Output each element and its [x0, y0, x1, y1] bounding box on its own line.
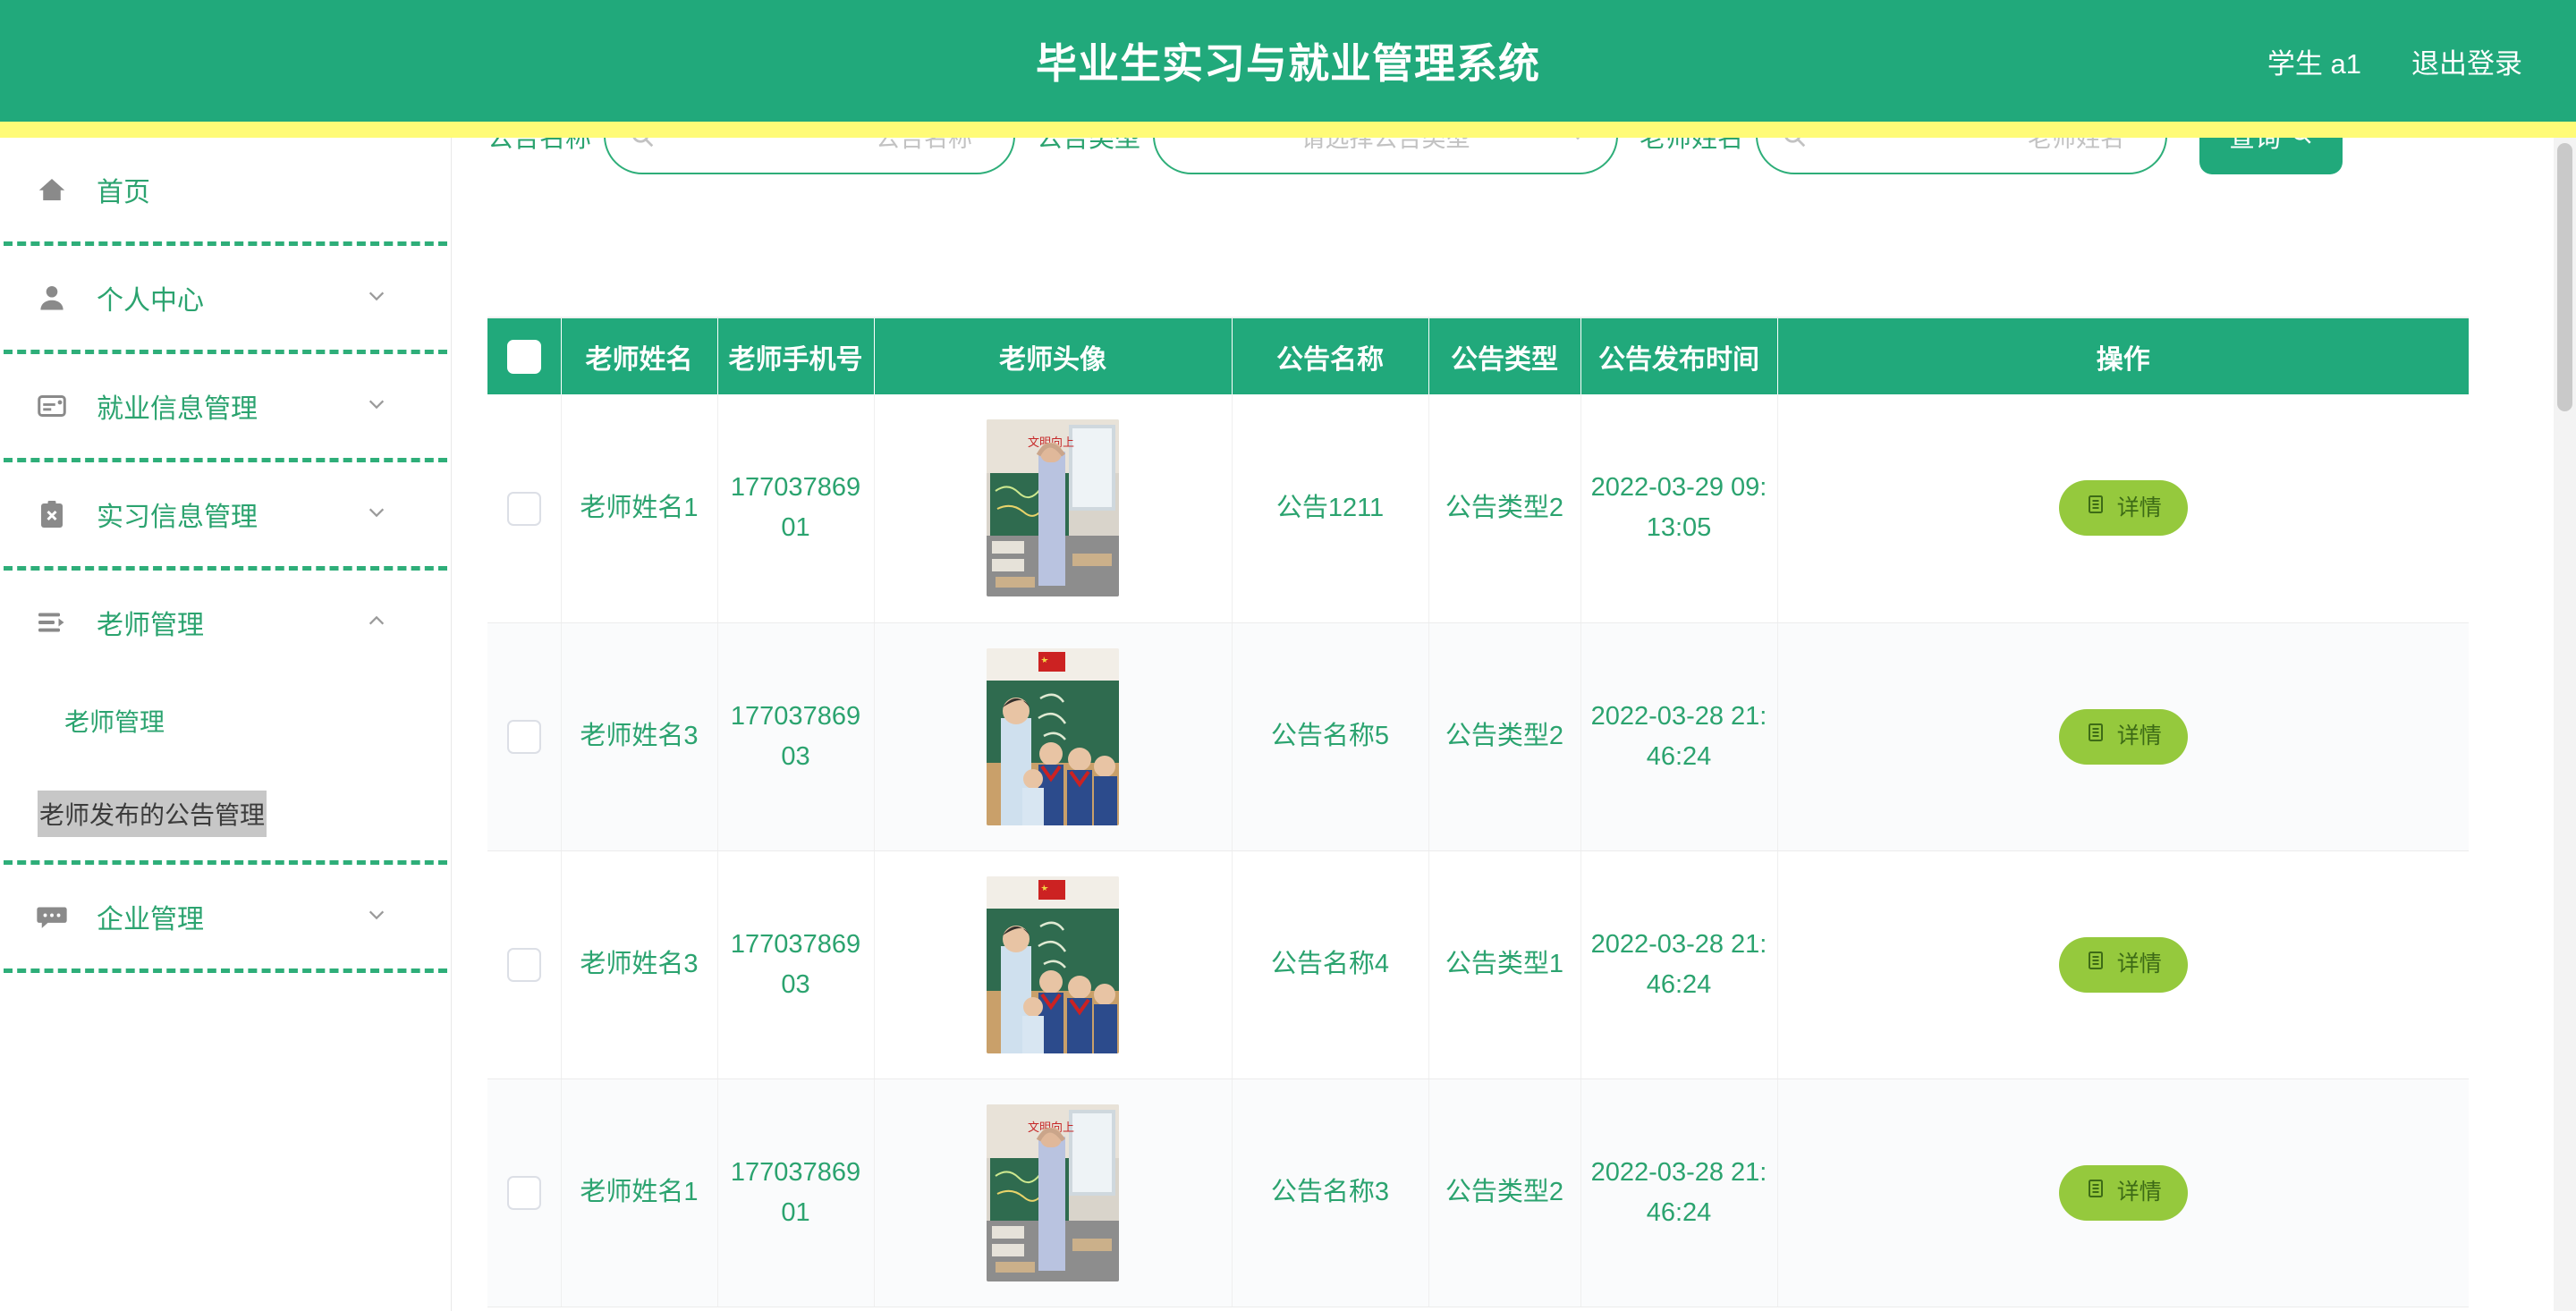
cell-teacher-avatar — [874, 622, 1232, 850]
document-icon — [2085, 491, 2106, 526]
select-all-header — [487, 317, 561, 394]
sidebar-item-employment-info[interactable]: 就业信息管理 — [0, 354, 451, 458]
cell-teacher-name: 老师姓名3 — [561, 622, 717, 850]
query-button-label: 查询 — [2229, 138, 2281, 155]
page-scrollbar[interactable] — [2554, 138, 2576, 1311]
list-arrow-icon — [34, 605, 70, 640]
sidebar-item-label: 首页 — [97, 170, 150, 209]
sidebar-item-internship-info[interactable]: 实习信息管理 — [0, 462, 451, 566]
sidebar-subitem-label: 老师管理 — [64, 703, 165, 739]
select-all-checkbox[interactable] — [507, 340, 541, 374]
detail-button[interactable]: 详情 — [2059, 709, 2188, 765]
sidebar-item-personal-center[interactable]: 个人中心 — [0, 246, 451, 350]
cell-teacher-avatar: 文明向上 — [874, 1078, 1232, 1307]
cell-actions: 详情 — [1777, 622, 2469, 850]
cell-announcement-name: 公告1211 — [1232, 394, 1428, 622]
cell-teacher-phone: 17703786903 — [717, 622, 874, 850]
cell-publish-time: 2022-03-29 09:13:05 — [1580, 394, 1777, 622]
comment-icon — [34, 899, 70, 935]
sidebar-item-enterprise-management[interactable]: 企业管理 — [0, 865, 451, 968]
cell-announcement-type: 公告类型2 — [1428, 1078, 1580, 1307]
sidebar-item-label: 个人中心 — [97, 278, 204, 317]
sidebar-item-label: 企业管理 — [97, 897, 204, 936]
cell-actions: 详情 — [1777, 850, 2469, 1078]
cell-teacher-phone: 17703786901 — [717, 394, 874, 622]
column-teacher-avatar: 老师头像 — [874, 317, 1232, 394]
chevron-down-icon — [367, 503, 386, 522]
column-teacher-name: 老师姓名 — [561, 317, 717, 394]
filter-label: 公告类型 — [1037, 138, 1140, 155]
detail-button-label: 详情 — [2117, 947, 2162, 982]
row-select-cell — [487, 1078, 561, 1307]
cell-announcement-type: 公告类型2 — [1428, 622, 1580, 850]
cell-publish-time: 2022-03-28 21:46:24 — [1580, 622, 1777, 850]
row-checkbox[interactable] — [507, 948, 541, 982]
app-header: 毕业生实习与就业管理系统 学生 a1 退出登录 — [0, 0, 2576, 122]
detail-button[interactable]: 详情 — [2059, 1165, 2188, 1221]
teacher-name-input[interactable]: 老师姓名 — [1756, 138, 2167, 174]
sidebar-subitem-label: 老师发布的公告管理 — [38, 791, 267, 837]
user-icon — [34, 280, 70, 316]
document-icon — [2085, 1175, 2106, 1210]
announcement-type-placeholder: 请选择公告类型 — [1301, 138, 1470, 154]
detail-button-label: 详情 — [2117, 491, 2162, 526]
sidebar-subitem-teacher-management[interactable]: 老师管理 — [0, 674, 451, 767]
sidebar-subitem-teacher-announcement-management[interactable]: 老师发布的公告管理 — [0, 767, 451, 860]
cell-actions: 详情 — [1777, 394, 2469, 622]
chevron-down-icon — [367, 394, 386, 414]
cell-teacher-phone: 17703786903 — [717, 850, 874, 1078]
table-row: 老师姓名3 17703786903 — [487, 850, 2469, 1078]
chevron-up-icon — [367, 611, 386, 630]
row-select-cell — [487, 394, 561, 622]
detail-button-label: 详情 — [2117, 1175, 2162, 1210]
sidebar: 首页 个人中心 就业信息管理 实习信息管理 — [0, 138, 452, 1311]
chevron-down-icon — [1570, 138, 1586, 143]
filter-announcement-type: 公告类型 请选择公告类型 — [1037, 138, 1618, 174]
row-checkbox[interactable] — [507, 1176, 541, 1210]
filter-bar: 公告名称 公告名称 公告类型 请选择公告类型 老师姓名 — [487, 138, 2491, 190]
column-teacher-phone: 老师手机号 — [717, 317, 874, 394]
filter-label: 公告名称 — [487, 138, 591, 155]
clipboard-x-icon — [34, 496, 70, 532]
column-announcement-type: 公告类型 — [1428, 317, 1580, 394]
row-select-cell — [487, 850, 561, 1078]
column-actions: 操作 — [1777, 317, 2469, 394]
announcement-type-select[interactable]: 请选择公告类型 — [1153, 138, 1618, 174]
announcement-name-placeholder: 公告名称 — [876, 138, 972, 154]
scrollbar-thumb[interactable] — [2557, 143, 2572, 411]
home-icon — [34, 172, 70, 207]
main-content: 公告名称 公告名称 公告类型 请选择公告类型 老师姓名 — [452, 138, 2554, 1311]
logout-link[interactable]: 退出登录 — [2411, 41, 2522, 81]
table-row: 老师姓名1 17703786901 文明向上 — [487, 1078, 2469, 1307]
cell-actions: 详情 — [1777, 1078, 2469, 1307]
row-checkbox[interactable] — [507, 492, 541, 526]
row-select-cell — [487, 622, 561, 850]
sidebar-item-label: 老师管理 — [97, 603, 204, 642]
detail-button[interactable]: 详情 — [2059, 480, 2188, 536]
sidebar-item-label: 就业信息管理 — [97, 386, 258, 426]
table-row: 老师姓名3 17703786903 — [487, 622, 2469, 850]
teacher-students-photo[interactable] — [987, 648, 1119, 825]
query-button[interactable]: 查询 — [2199, 138, 2343, 174]
card-icon — [34, 388, 70, 424]
current-user-label: 学生 a1 — [2267, 41, 2361, 81]
document-icon — [2085, 947, 2106, 982]
sidebar-item-home[interactable]: 首页 — [0, 138, 451, 241]
chevron-down-icon — [367, 286, 386, 306]
search-icon — [1781, 138, 1808, 149]
header-actions: 学生 a1 退出登录 — [2267, 0, 2522, 122]
table-row: 老师姓名1 17703786901 文明向上 — [487, 394, 2469, 622]
cell-announcement-name: 公告名称3 — [1232, 1078, 1428, 1307]
cell-announcement-name: 公告名称4 — [1232, 850, 1428, 1078]
announcement-name-input[interactable]: 公告名称 — [604, 138, 1015, 174]
filter-teacher-name: 老师姓名 老师姓名 — [1640, 138, 2167, 174]
cell-teacher-phone: 17703786901 — [717, 1078, 874, 1307]
cell-announcement-type: 公告类型1 — [1428, 850, 1580, 1078]
cell-teacher-avatar: 文明向上 — [874, 394, 1232, 622]
classroom-boy-photo[interactable]: 文明向上 — [987, 419, 1119, 596]
sidebar-divider — [4, 968, 447, 973]
accent-strip — [0, 122, 2576, 138]
chevron-down-icon — [367, 905, 386, 925]
announcement-table: 老师姓名 老师手机号 老师头像 公告名称 公告类型 公告发布时间 操作 老师姓名… — [487, 317, 2469, 1307]
cell-teacher-name: 老师姓名1 — [561, 394, 717, 622]
cell-announcement-name: 公告名称5 — [1232, 622, 1428, 850]
search-icon — [629, 138, 656, 149]
teacher-students-photo[interactable] — [987, 876, 1119, 1053]
cell-announcement-type: 公告类型2 — [1428, 394, 1580, 622]
cell-publish-time: 2022-03-28 21:46:24 — [1580, 1078, 1777, 1307]
page-title: 毕业生实习与就业管理系统 — [1036, 31, 1540, 90]
detail-button[interactable]: 详情 — [2059, 937, 2188, 993]
document-icon — [2085, 719, 2106, 754]
cell-teacher-name: 老师姓名3 — [561, 850, 717, 1078]
table-header-row: 老师姓名 老师手机号 老师头像 公告名称 公告类型 公告发布时间 操作 — [487, 317, 2469, 394]
teacher-name-placeholder: 老师姓名 — [2028, 138, 2124, 154]
detail-button-label: 详情 — [2117, 719, 2162, 754]
cell-teacher-avatar — [874, 850, 1232, 1078]
filter-announcement-name: 公告名称 公告名称 — [487, 138, 1015, 174]
column-publish-time: 公告发布时间 — [1580, 317, 1777, 394]
row-checkbox[interactable] — [507, 720, 541, 754]
cell-teacher-name: 老师姓名1 — [561, 1078, 717, 1307]
classroom-boy-photo[interactable]: 文明向上 — [987, 1104, 1119, 1281]
column-announcement-name: 公告名称 — [1232, 317, 1428, 394]
search-icon — [2290, 138, 2313, 150]
cell-publish-time: 2022-03-28 21:46:24 — [1580, 850, 1777, 1078]
sidebar-item-teacher-management[interactable]: 老师管理 — [0, 571, 451, 674]
sidebar-item-label: 实习信息管理 — [97, 495, 258, 534]
filter-label: 老师姓名 — [1640, 138, 1743, 155]
